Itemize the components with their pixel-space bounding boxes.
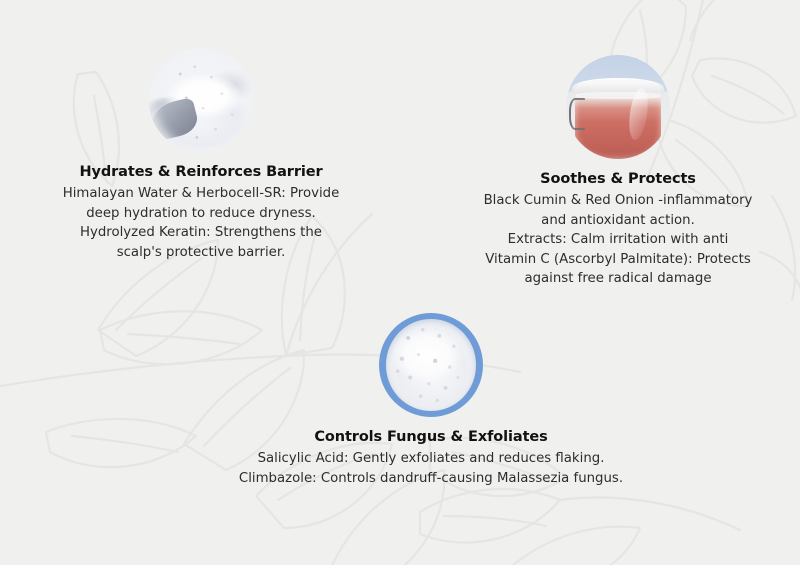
feature-block-soothes-protects: Soothes & Protects Black Cumin & Red Oni… — [443, 55, 793, 289]
red-liquid-jar-image — [566, 55, 670, 159]
feature-heading: Hydrates & Reinforces Barrier — [26, 163, 376, 182]
ingredient-benefits-infographic: Hydrates & Reinforces Barrier Himalayan … — [0, 0, 800, 565]
feature-body: Black Cumin & Red Onion -inflammatory an… — [443, 191, 793, 289]
powder-granule-texture — [379, 313, 483, 417]
feature-block-hydrates-reinforces-barrier: Hydrates & Reinforces Barrier Himalayan … — [26, 48, 376, 262]
feature-block-controls-fungus-exfoliates: Controls Fungus & Exfoliates Salicylic A… — [156, 313, 706, 488]
feature-body: Salicylic Acid: Gently exfoliates and re… — [156, 449, 706, 488]
jar-clasp-shape — [569, 98, 585, 130]
image-circle-vignette — [149, 48, 253, 152]
feature-heading: Controls Fungus & Exfoliates — [156, 428, 706, 447]
feature-heading: Soothes & Protects — [443, 170, 793, 189]
white-powder-scoop-image — [149, 48, 253, 152]
feature-body: Himalayan Water & Herbocell-SR: Provide … — [26, 184, 376, 262]
white-powder-blue-dish-image — [379, 313, 483, 417]
